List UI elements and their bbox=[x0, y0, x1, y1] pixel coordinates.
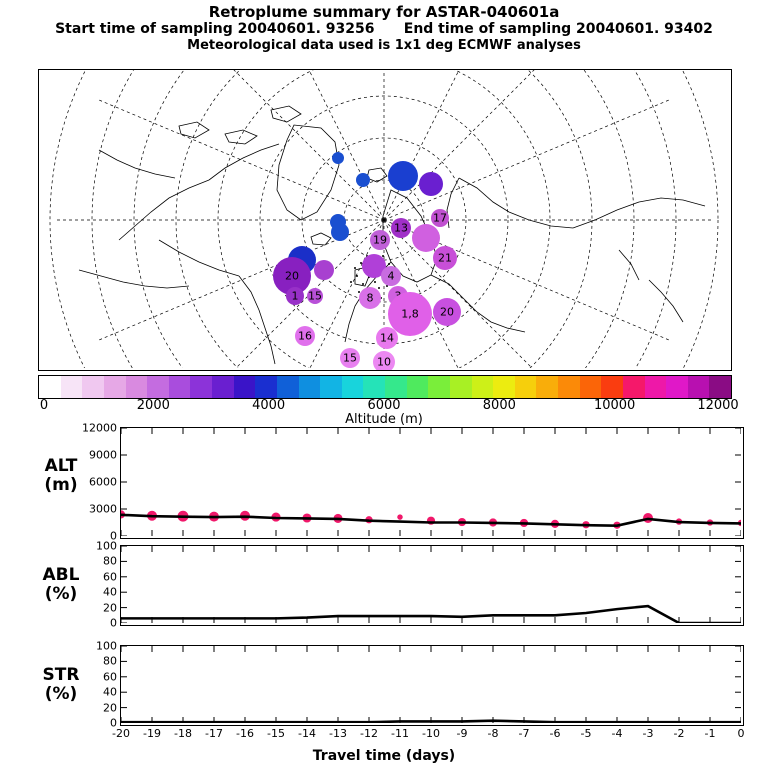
plume-blob bbox=[412, 224, 440, 252]
colorbar-segment bbox=[126, 376, 148, 398]
sampling-times: Start time of sampling 20040601. 93256 E… bbox=[0, 21, 768, 38]
x-tick-label: -12 bbox=[360, 727, 378, 740]
plume-blob-label: 21 bbox=[438, 252, 452, 265]
x-tick-label: -7 bbox=[519, 727, 530, 740]
x-tick-label: -13 bbox=[329, 727, 347, 740]
abl-panel bbox=[120, 545, 744, 626]
colorbar-tick: 12000 bbox=[697, 398, 738, 413]
x-tick-label: -14 bbox=[298, 727, 316, 740]
colorbar-tick: 4000 bbox=[252, 398, 285, 413]
colorbar-segment bbox=[688, 376, 710, 398]
colorbar-segment bbox=[342, 376, 364, 398]
colorbar-segment bbox=[169, 376, 191, 398]
colorbar-segment bbox=[580, 376, 602, 398]
plume-blob bbox=[314, 260, 334, 280]
str-axis-label: STR (%) bbox=[8, 666, 114, 704]
colorbar-segment bbox=[385, 376, 407, 398]
y-tick-label: 20 bbox=[103, 601, 117, 614]
y-tick-label: 60 bbox=[103, 570, 117, 583]
x-tick-label: -2 bbox=[674, 727, 685, 740]
plume-blob bbox=[332, 152, 344, 164]
colorbar-segment bbox=[515, 376, 537, 398]
x-axis-title: Travel time (days) bbox=[0, 748, 768, 764]
x-tick-label: -15 bbox=[267, 727, 285, 740]
plume-blob-label: 19 bbox=[373, 234, 387, 247]
str-plot bbox=[121, 646, 741, 723]
y-tick-label: 0 bbox=[110, 617, 117, 630]
colorbar-segment bbox=[666, 376, 688, 398]
y-tick-label: 9000 bbox=[89, 449, 117, 462]
y-tick-label: 20 bbox=[103, 701, 117, 714]
page-title: Retroplume summary for ASTAR-040601a bbox=[0, 3, 768, 21]
colorbar-tick: 2000 bbox=[137, 398, 170, 413]
colorbar-tick-labels: 020004000600080001000012000 bbox=[0, 398, 768, 412]
y-tick-label: 60 bbox=[103, 670, 117, 683]
x-tick-label: -4 bbox=[612, 727, 623, 740]
abl-axis-label: ABL (%) bbox=[8, 566, 114, 604]
y-tick-label: 3000 bbox=[89, 503, 117, 516]
met-data-label: Meteorological data used is 1x1 deg ECMW… bbox=[0, 38, 768, 54]
plume-blob bbox=[331, 223, 349, 241]
plume-blob-label: 8 bbox=[367, 292, 374, 305]
colorbar-tick: 6000 bbox=[367, 398, 400, 413]
colorbar-segment bbox=[147, 376, 169, 398]
y-tick-label: 100 bbox=[96, 540, 117, 553]
colorbar-segment bbox=[493, 376, 515, 398]
alt-panel bbox=[120, 427, 744, 539]
x-tick-label: -16 bbox=[236, 727, 254, 740]
x-tick-label: -20 bbox=[112, 727, 130, 740]
x-tick-label: -8 bbox=[488, 727, 499, 740]
y-tick-label: 80 bbox=[103, 655, 117, 668]
plume-blob-label: 20 bbox=[440, 306, 454, 319]
retroplume-map: 17131921204115831,82016141510 bbox=[38, 69, 732, 371]
x-tick-label: -1 bbox=[705, 727, 716, 740]
colorbar-segment bbox=[277, 376, 299, 398]
x-tick-label: -3 bbox=[643, 727, 654, 740]
x-tick-label: -6 bbox=[550, 727, 561, 740]
colorbar-segment bbox=[190, 376, 212, 398]
header-block: Retroplume summary for ASTAR-040601a Sta… bbox=[0, 0, 768, 54]
colorbar-segment bbox=[363, 376, 385, 398]
colorbar-segment bbox=[320, 376, 342, 398]
colorbar-segment bbox=[536, 376, 558, 398]
colorbar-segment bbox=[645, 376, 667, 398]
x-tick-label: -5 bbox=[581, 727, 592, 740]
colorbar-segment bbox=[601, 376, 623, 398]
colorbar-tick: 8000 bbox=[483, 398, 516, 413]
x-tick-label: -9 bbox=[457, 727, 468, 740]
alt-plot bbox=[121, 428, 741, 536]
colorbar-tick: 10000 bbox=[594, 398, 635, 413]
y-tick-label: 40 bbox=[103, 586, 117, 599]
colorbar-tick: 0 bbox=[40, 398, 48, 413]
x-tick-label: -10 bbox=[422, 727, 440, 740]
colorbar-segment bbox=[255, 376, 277, 398]
x-tick-label: -17 bbox=[205, 727, 223, 740]
colorbar-segment bbox=[82, 376, 104, 398]
plume-blob bbox=[388, 161, 418, 191]
colorbar-segment bbox=[450, 376, 472, 398]
colorbar-segment bbox=[709, 376, 731, 398]
plume-blob-label: 10 bbox=[377, 356, 391, 369]
plume-blob-label: 16 bbox=[298, 330, 312, 343]
colorbar-segment bbox=[61, 376, 83, 398]
y-tick-label: 100 bbox=[96, 640, 117, 653]
plume-blob-label: 15 bbox=[343, 352, 357, 365]
x-tick-label: -11 bbox=[391, 727, 409, 740]
plume-blob-label: 20 bbox=[285, 270, 299, 283]
colorbar-segment bbox=[234, 376, 256, 398]
colorbar-segment bbox=[104, 376, 126, 398]
plume-blob-label: 4 bbox=[388, 270, 395, 283]
abl-plot bbox=[121, 546, 741, 623]
colorbar-segment bbox=[407, 376, 429, 398]
x-tick-label: -18 bbox=[174, 727, 192, 740]
y-tick-label: 6000 bbox=[89, 476, 117, 489]
colorbar-segment bbox=[558, 376, 580, 398]
plume-blob-label: 15 bbox=[308, 290, 322, 303]
plume-blob-label: 17 bbox=[433, 212, 447, 225]
plume-blob-label: 13 bbox=[394, 222, 408, 235]
colorbar-segment bbox=[428, 376, 450, 398]
plume-blob bbox=[419, 172, 443, 196]
plume-blob-label: 1,8 bbox=[401, 308, 419, 321]
x-tick-label: 0 bbox=[738, 727, 745, 740]
colorbar-segment bbox=[299, 376, 321, 398]
map-graticule-and-coastlines bbox=[39, 70, 729, 368]
end-time-label: End time of sampling 20040601. 93402 bbox=[404, 21, 713, 37]
altitude-colorbar bbox=[38, 375, 732, 399]
x-tick-label: -19 bbox=[143, 727, 161, 740]
colorbar-segment bbox=[212, 376, 234, 398]
start-time-label: Start time of sampling 20040601. 93256 bbox=[55, 21, 374, 37]
plume-blob-label: 14 bbox=[380, 332, 394, 345]
colorbar-segment bbox=[623, 376, 645, 398]
y-tick-label: 40 bbox=[103, 686, 117, 699]
str-panel bbox=[120, 645, 744, 726]
plume-blob bbox=[356, 173, 370, 187]
colorbar-segment bbox=[39, 376, 61, 398]
colorbar-segment bbox=[472, 376, 494, 398]
y-tick-label: 12000 bbox=[82, 422, 117, 435]
plume-blob-label: 1 bbox=[292, 290, 299, 303]
y-tick-label: 80 bbox=[103, 555, 117, 568]
